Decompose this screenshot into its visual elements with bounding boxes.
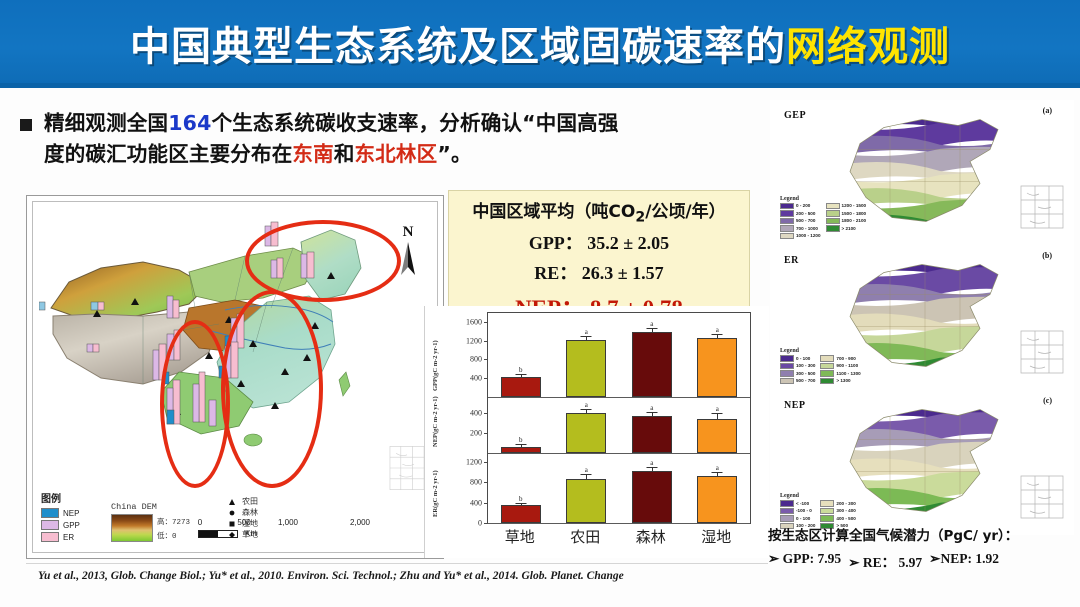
bar-group: a (697, 397, 737, 453)
stat-header-main: 中国区域平均（吨CO (472, 202, 635, 222)
scale-tick-3: 2,000 (350, 518, 370, 527)
stat-header-tail: /公顷/年） (645, 202, 725, 222)
bar-group: a (632, 397, 672, 453)
flux-legend-item: 1200 - 1500 (826, 203, 867, 210)
flux-legend-label: -100 - 0 (796, 508, 812, 513)
chart-x-categories: 草地 农田 森林 湿地 (487, 526, 749, 547)
y-axis-label-nep: NEP(gC m-2 yr-1) (432, 396, 439, 447)
flux-map-legend: Legend0 - 200200 - 500500 - 700700 - 100… (780, 196, 940, 240)
dem-legend-title: China DEM (111, 502, 229, 512)
dem-range-values: 高：7273 低：0 (157, 516, 190, 544)
flux-legend-label: 1800 - 2100 (842, 218, 867, 223)
flux-legend-label: 500 - 700 (796, 378, 815, 383)
dem-low-value: 低：0 (157, 530, 190, 544)
flux-map-panel-tag: (c) (1043, 396, 1052, 405)
legend-swatch-gpp (41, 520, 59, 530)
map-frame: N 0 500 1,000 2, (32, 201, 438, 553)
north-arrow: N (391, 224, 425, 276)
flux-legend-swatch (780, 225, 794, 232)
bullet-red2: 东北林区 (355, 142, 438, 166)
legend-label-er: ER (63, 533, 74, 542)
significance-letter: a (716, 326, 719, 334)
bar-group: b (501, 397, 541, 453)
flux-legend-item: 1800 - 2100 (826, 218, 867, 225)
flux-legend-swatch (826, 225, 840, 232)
flux-legend-item: 0 - 200 (780, 203, 821, 210)
flux-map-nep: NEP(c)Legend< -100-100 - 00 - 100100 - 2… (770, 390, 1074, 535)
stat-gpp: GPP： 35.2 ± 2.05 (449, 229, 749, 255)
error-bar (717, 335, 718, 338)
flux-legend-label: 0 - 100 (796, 516, 810, 521)
flux-legend-label: 0 - 100 (796, 356, 810, 361)
flux-legend-swatch (780, 508, 794, 515)
citation-line: Yu et al., 2013, Glob. Change Biol.; Yu*… (38, 570, 768, 582)
significance-letter: a (585, 401, 588, 409)
bullet-red1: 东南 (292, 142, 333, 166)
y-tick-label: 1600 (452, 317, 482, 326)
flux-legend-label: 300 - 500 (796, 371, 815, 376)
x-cat-2: 森林 (631, 526, 671, 547)
legend-label-gpp: GPP (63, 521, 80, 530)
bullet-paragraph: 精细观测全国164个生态系统碳收支速率，分析确认“中国高强 度的碳汇功能区主要分… (20, 108, 760, 170)
error-bar (652, 468, 653, 471)
title-underline (0, 83, 1080, 88)
flux-legend-item: 900 - 1100 (820, 363, 860, 370)
significance-letter: a (650, 320, 653, 328)
bar-group: a (566, 397, 606, 453)
site-type-label-0: 农田 (242, 496, 258, 507)
error-bar-cap (646, 467, 657, 468)
flux-legend-column: 1200 - 15001500 - 18001800 - 2100> 2100 (826, 203, 867, 240)
flux-legend-label: 500 - 700 (796, 218, 815, 223)
error-bar (586, 410, 587, 413)
dem-high-value: 高：7273 (157, 516, 190, 530)
error-bar-cap (646, 328, 657, 329)
error-bar-cap (646, 412, 657, 413)
error-bar (717, 414, 718, 419)
legend-swatch-nep (41, 508, 59, 518)
flux-legend-swatch (780, 363, 794, 370)
y-tick-label: 200 (452, 429, 482, 438)
site-type-legend: 农田 森林 湿地 草地 (229, 496, 258, 540)
bar-group: b (501, 313, 541, 397)
bar-group: a (566, 453, 606, 523)
asterisk-marker-icon (229, 510, 235, 516)
bullet-seg5: ”。 (437, 142, 471, 166)
flux-legend-swatch (780, 500, 794, 507)
chart-bars-re: baaa (488, 453, 750, 523)
significance-letter: a (716, 405, 719, 413)
flux-legend-column: 0 - 200200 - 500500 - 700700 - 10001000 … (780, 203, 821, 240)
flux-legend-swatch (826, 203, 840, 210)
y-tick-label: 0 (452, 519, 482, 528)
flux-legend-label: 200 - 500 (796, 211, 815, 216)
flux-legend-column: 0 - 100100 - 300300 - 500500 - 700 (780, 355, 815, 384)
y-tick-mark (484, 359, 488, 360)
bullet-seg2: 个生态系统碳收支速率，分析确认“中国高强 (212, 111, 619, 135)
flux-legend-item: 300 - 500 (780, 370, 815, 377)
title-bar: 中国典型生态系统及区域固碳速率的网络观测 (0, 0, 1080, 88)
triangle-marker-icon (229, 499, 235, 505)
site-type-wetland: 湿地 (229, 518, 258, 529)
error-bar (652, 413, 653, 416)
error-bar-cap (581, 336, 592, 337)
north-arrow-label: N (391, 224, 425, 241)
ecosystem-flux-bar-chart: baaa40080012001600GPP(gC m-2 yr-1)baaa20… (424, 306, 769, 558)
flux-legend-swatch (820, 515, 834, 522)
bar (566, 340, 606, 397)
flux-legend-swatch (780, 210, 794, 217)
bar (501, 377, 541, 397)
x-cat-1: 农田 (565, 526, 605, 547)
flux-legend-item: 700 - 1000 (780, 225, 821, 232)
flux-legend-swatch (826, 218, 840, 225)
flux-legend-swatch (820, 363, 834, 370)
bar-group: a (632, 453, 672, 523)
flux-legend-swatch (780, 233, 794, 240)
significance-letter: b (519, 366, 523, 374)
bar (566, 479, 606, 523)
flux-legend-item: -100 - 0 (780, 508, 815, 515)
y-tick-label: 1200 (452, 336, 482, 345)
slide-root: 中国典型生态系统及区域固碳速率的网络观测 精细观测全国164个生态系统碳收支速率… (0, 0, 1080, 607)
significance-letter: a (650, 459, 653, 467)
flux-legend-label: 300 - 400 (836, 508, 855, 513)
flux-map-title: ER (784, 255, 799, 266)
flux-map-title: NEP (784, 400, 806, 411)
bar (697, 419, 737, 454)
bullet-number: 164 (168, 111, 211, 135)
highlight-ellipse-southwest (160, 320, 230, 488)
conclusion-heading: 按生态区计算全国气候潜力（PgC/ yr）： (768, 524, 1076, 544)
conclusion-gpp: ➢ GPP: 7.95 (768, 551, 841, 571)
flux-legend-swatch (780, 218, 794, 225)
error-bar-cap (515, 374, 526, 375)
y-tick-mark (484, 482, 488, 483)
flux-map-legend-title: Legend (780, 348, 940, 354)
flux-legend-swatch (780, 355, 794, 362)
flux-legend-item: 200 - 500 (780, 210, 821, 217)
regional-average-box: 中国区域平均（吨CO2/公顷/年） GPP： 35.2 ± 2.05 RE： 2… (448, 190, 750, 310)
bar (697, 476, 737, 523)
error-bar-cap (712, 472, 723, 473)
y-tick-label: 400 (452, 374, 482, 383)
flux-legend-swatch (826, 210, 840, 217)
error-bar (521, 375, 522, 376)
bar-group: a (697, 453, 737, 523)
dem-color-ramp (111, 514, 153, 542)
bullet-seg4: 和 (334, 142, 355, 166)
y-tick-mark (484, 503, 488, 504)
error-bar-cap (581, 409, 592, 410)
y-tick-mark (484, 462, 488, 463)
dot-marker-icon (229, 532, 235, 538)
north-arrow-icon (399, 242, 417, 276)
national-flux-map-column: GEP(a)Legend0 - 200200 - 500500 - 700700… (770, 100, 1074, 540)
flux-legend-swatch (820, 370, 834, 377)
chart-bars-gpp: baaa (488, 313, 750, 397)
legend-swatch-er (41, 532, 59, 542)
bar (501, 505, 541, 523)
flux-legend-item: > 2100 (826, 225, 867, 232)
stat-re: RE： 26.3 ± 1.57 (449, 259, 749, 285)
flux-legend-item: 1000 - 1200 (780, 233, 821, 240)
conclusion-nep: ➢NEP: 1.92 (929, 551, 999, 571)
y-tick-mark (484, 341, 488, 342)
flux-legend-label: 100 - 300 (796, 363, 815, 368)
page-title: 中国典型生态系统及区域固碳速率的网络观测 (0, 14, 1080, 72)
significance-letter: b (519, 436, 523, 444)
flux-legend-label: 1100 - 1300 (836, 371, 860, 376)
y-axis-label-gpp: GPP(gC m-2 yr-1) (432, 340, 439, 391)
flux-map-inset (1018, 328, 1066, 376)
y-tick-mark (484, 433, 488, 434)
chart-panel-nep: baaa (488, 397, 750, 454)
flux-legend-item: > 1300 (820, 378, 860, 385)
error-bar-cap (515, 444, 526, 445)
error-bar-cap (712, 334, 723, 335)
page-title-highlight: 网络观测 (786, 24, 950, 70)
significance-letter: a (585, 466, 588, 474)
significance-letter: a (585, 328, 588, 336)
y-axis-label-re: ER(gC m-2 yr-1) (432, 470, 439, 517)
bar (566, 413, 606, 454)
error-bar-cap (581, 474, 592, 475)
chart-panel-gpp: baaa (488, 313, 750, 398)
flux-legend-swatch (820, 378, 834, 385)
site-type-label-3: 草地 (242, 529, 258, 540)
conclusion-values: ➢ GPP: 7.95 ➢ RE： 5.97 ➢NEP: 1.92 (768, 551, 1076, 571)
bar (632, 416, 672, 453)
flux-legend-swatch (780, 515, 794, 522)
flux-legend-swatch (780, 378, 794, 385)
flux-legend-item: 100 - 300 (780, 363, 815, 370)
dem-legend: China DEM 高：7273 低：0 (111, 502, 229, 542)
significance-letter: b (519, 495, 523, 503)
footer-divider (26, 563, 768, 564)
y-tick-mark (484, 523, 488, 524)
flux-legend-swatch (780, 370, 794, 377)
flux-legend-item: < -100 (780, 500, 815, 507)
flux-legend-swatch (780, 203, 794, 210)
x-cat-3: 湿地 (696, 526, 736, 547)
star-marker-icon (229, 521, 235, 527)
flux-legend-item: 1500 - 1800 (826, 210, 867, 217)
flux-map-gep: GEP(a)Legend0 - 200200 - 500500 - 700700… (770, 100, 1074, 245)
error-bar (586, 337, 587, 340)
flux-legend-label: > 1300 (836, 378, 850, 383)
flux-legend-item: 700 - 900 (820, 355, 860, 362)
chart-plot-area: baaa40080012001600GPP(gC m-2 yr-1)baaa20… (487, 312, 751, 524)
x-cat-0: 草地 (500, 526, 540, 547)
flux-map-inset (1018, 473, 1066, 521)
error-bar-cap (712, 413, 723, 414)
flux-legend-item: 0 - 100 (780, 515, 815, 522)
y-tick-label: 400 (452, 498, 482, 507)
flux-map-legend-title: Legend (780, 493, 940, 499)
bar-group: a (566, 313, 606, 397)
stat-header-sub: 2 (635, 209, 645, 225)
bullet-text: 精细观测全国164个生态系统碳收支速率，分析确认“中国高强 度的碳汇功能区主要分… (44, 108, 619, 170)
error-bar (521, 504, 522, 505)
flux-legend-label: 1000 - 1200 (796, 233, 821, 238)
flux-legend-label: 0 - 200 (796, 203, 810, 208)
legend-label-nep: NEP (63, 509, 79, 518)
flux-map-legend-title: Legend (780, 196, 940, 202)
highlight-ellipse-southeast (221, 290, 323, 488)
error-bar (652, 329, 653, 332)
site-type-label-1: 森林 (242, 507, 258, 518)
significance-letter: a (650, 404, 653, 412)
flux-legend-label: 900 - 1100 (836, 363, 858, 368)
site-type-label-2: 湿地 (242, 518, 258, 529)
y-tick-label: 1200 (452, 458, 482, 467)
site-type-forest: 森林 (229, 507, 258, 518)
page-title-main: 中国典型生态系统及区域固碳速率的 (130, 24, 786, 70)
flux-legend-label: 1500 - 1800 (842, 211, 867, 216)
conclusion-re: ➢ RE： 5.97 (848, 551, 922, 571)
y-tick-label: 400 (452, 409, 482, 418)
y-tick-mark (484, 413, 488, 414)
flux-map-title: GEP (784, 110, 806, 121)
y-tick-mark (484, 322, 488, 323)
flux-legend-label: 1200 - 1500 (842, 203, 867, 208)
flux-legend-label: 400 - 500 (836, 516, 855, 521)
flux-map-legend: Legend0 - 100100 - 300300 - 500500 - 700… (780, 348, 940, 384)
y-tick-label: 800 (452, 478, 482, 487)
flux-legend-item: 1100 - 1300 (820, 370, 860, 377)
flux-legend-item: 200 - 300 (820, 500, 855, 507)
flux-legend-item: 500 - 700 (780, 218, 821, 225)
bar (697, 338, 737, 397)
bar (632, 332, 672, 397)
error-bar (521, 445, 522, 447)
bullet-seg3: 度的碳汇功能区主要分布在 (44, 142, 292, 166)
flux-legend-swatch (820, 355, 834, 362)
flux-legend-column: 700 - 900900 - 11001100 - 1300> 1300 (820, 355, 860, 384)
flux-map-er: ER(b)Legend0 - 100100 - 300300 - 500500 … (770, 245, 1074, 390)
flux-legend-label: < -100 (796, 501, 809, 506)
flux-legend-item: 500 - 700 (780, 378, 815, 385)
y-tick-mark (484, 378, 488, 379)
bullet-seg1: 精细观测全国 (44, 111, 168, 135)
conclusion-block: 按生态区计算全国气候潜力（PgC/ yr）： ➢ GPP: 7.95 ➢ RE：… (768, 524, 1076, 571)
bar-group: b (501, 453, 541, 523)
flux-legend-item: 400 - 500 (820, 515, 855, 522)
flux-legend-label: 700 - 1000 (796, 226, 818, 231)
error-bar (586, 475, 587, 479)
error-bar (717, 473, 718, 476)
flux-map-inset (1018, 183, 1066, 231)
bar (632, 471, 672, 523)
y-tick-label: 800 (452, 355, 482, 364)
chart-bars-nep: baaa (488, 397, 750, 453)
significance-letter: a (716, 464, 719, 472)
flux-map-panel-tag: (a) (1043, 106, 1052, 115)
flux-legend-label: 700 - 900 (836, 356, 855, 361)
site-type-grassland: 草地 (229, 529, 258, 540)
site-type-cropland: 农田 (229, 496, 258, 507)
flux-legend-item: 0 - 100 (780, 355, 815, 362)
chart-panel-re: baaa (488, 453, 750, 524)
stat-header: 中国区域平均（吨CO2/公顷/年） (449, 197, 749, 225)
bullet-square-icon (20, 119, 32, 131)
scale-tick-2: 1,000 (278, 518, 298, 527)
flux-legend-swatch (820, 500, 834, 507)
flux-legend-swatch (820, 508, 834, 515)
flux-legend-label: 200 - 300 (836, 501, 855, 506)
flux-legend-label: > 2100 (842, 226, 856, 231)
main-china-dem-map: N 0 500 1,000 2, (26, 195, 444, 559)
flux-map-panel-tag: (b) (1042, 251, 1052, 260)
bar-group: a (697, 313, 737, 397)
flux-legend-item: 300 - 400 (820, 508, 855, 515)
error-bar-cap (515, 503, 526, 504)
bar-group: a (632, 313, 672, 397)
